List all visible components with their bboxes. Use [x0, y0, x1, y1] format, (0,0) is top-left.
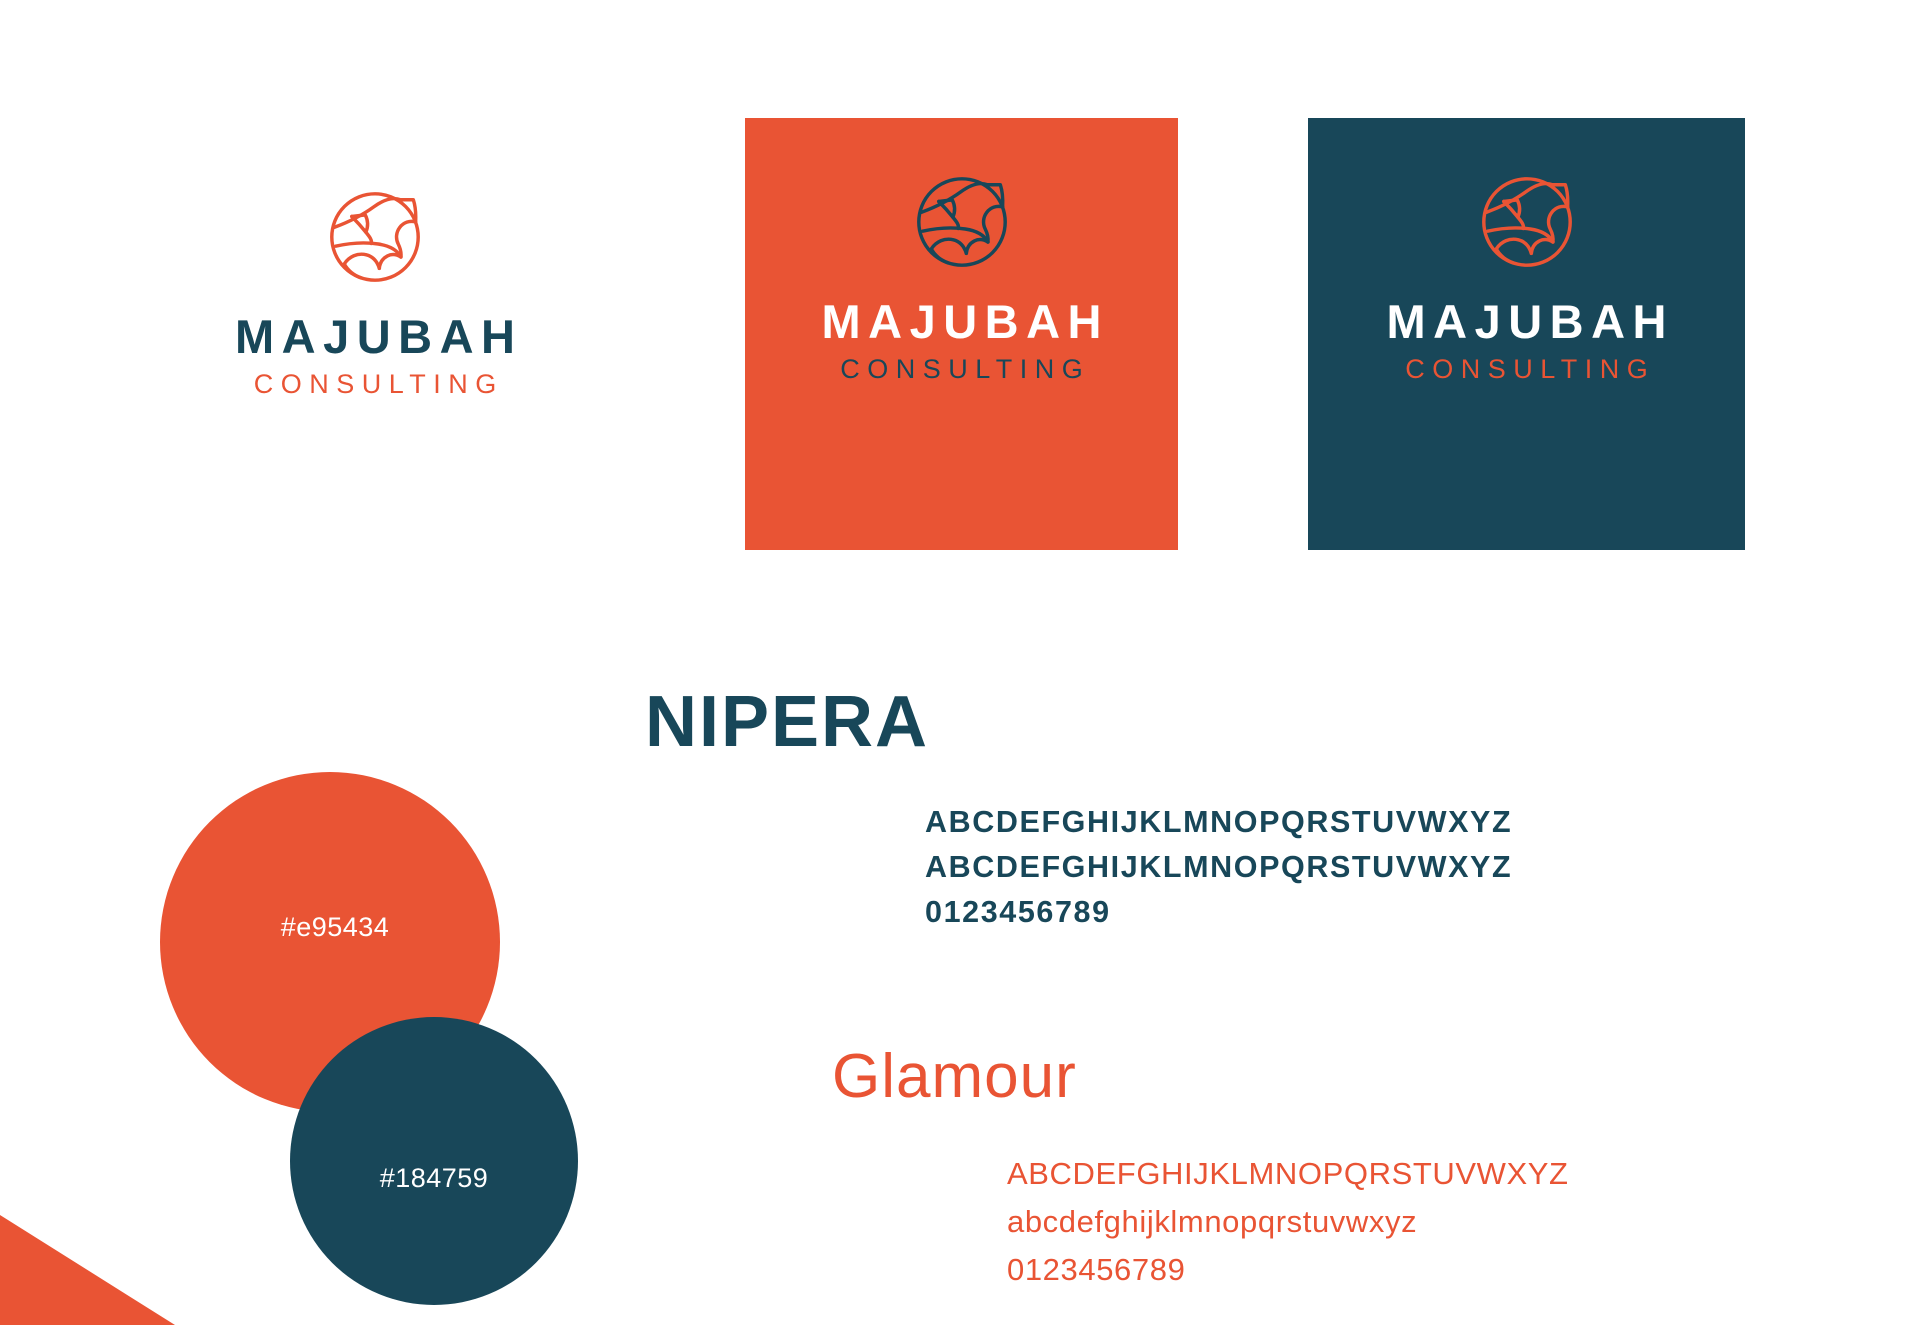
color-swatch-label: #e95434: [281, 912, 390, 943]
brand-mark-icon: [1473, 168, 1581, 276]
corner-triangle-decor: [0, 1215, 175, 1325]
specimen-row-lowercase: abcdefghijklmnopqrstuvwxyz: [1007, 1198, 1837, 1246]
primary-typeface-title: NIPERA: [645, 686, 929, 758]
logo-panel-primary: MAJUBAH CONSULTING: [745, 118, 1178, 550]
logo-lockup-primary: MAJUBAH CONSULTING: [745, 168, 1178, 383]
color-swatch-label: #184759: [380, 1163, 489, 1194]
specimen-row-numerals: 0123456789: [925, 890, 1745, 935]
brand-mark-icon: [908, 168, 1016, 276]
wordmark-name: MAJUBAH: [228, 313, 523, 360]
logo-lockup-secondary: MAJUBAH CONSULTING: [1308, 168, 1745, 383]
wordmark-descriptor: CONSULTING: [833, 356, 1091, 383]
logo-lockup-light: MAJUBAH CONSULTING: [180, 175, 570, 405]
wordmark-name: MAJUBAH: [814, 298, 1109, 345]
specimen-row-uppercase-2: ABCDEFGHIJKLMNOPQRSTUVWXYZ: [925, 845, 1745, 890]
secondary-typeface-title: Glamour: [832, 1046, 1077, 1108]
specimen-row-uppercase: ABCDEFGHIJKLMNOPQRSTUVWXYZ: [1007, 1150, 1837, 1198]
specimen-row-numerals: 0123456789: [1007, 1246, 1837, 1294]
style-guide-canvas: MAJUBAH CONSULTING MAJUBAH CONSULTING: [0, 0, 1920, 1325]
wordmark-descriptor: CONSULTING: [246, 371, 504, 398]
color-swatch-secondary: #184759: [290, 1017, 578, 1305]
secondary-typeface-specimen: ABCDEFGHIJKLMNOPQRSTUVWXYZ abcdefghijklm…: [1007, 1150, 1837, 1294]
brand-mark-icon: [321, 183, 429, 291]
wordmark-name: MAJUBAH: [1379, 298, 1674, 345]
specimen-row-uppercase-1: ABCDEFGHIJKLMNOPQRSTUVWXYZ: [925, 800, 1745, 845]
primary-typeface-specimen: ABCDEFGHIJKLMNOPQRSTUVWXYZ ABCDEFGHIJKLM…: [925, 800, 1745, 935]
logo-panel-secondary: MAJUBAH CONSULTING: [1308, 118, 1745, 550]
wordmark-descriptor: CONSULTING: [1398, 356, 1656, 383]
